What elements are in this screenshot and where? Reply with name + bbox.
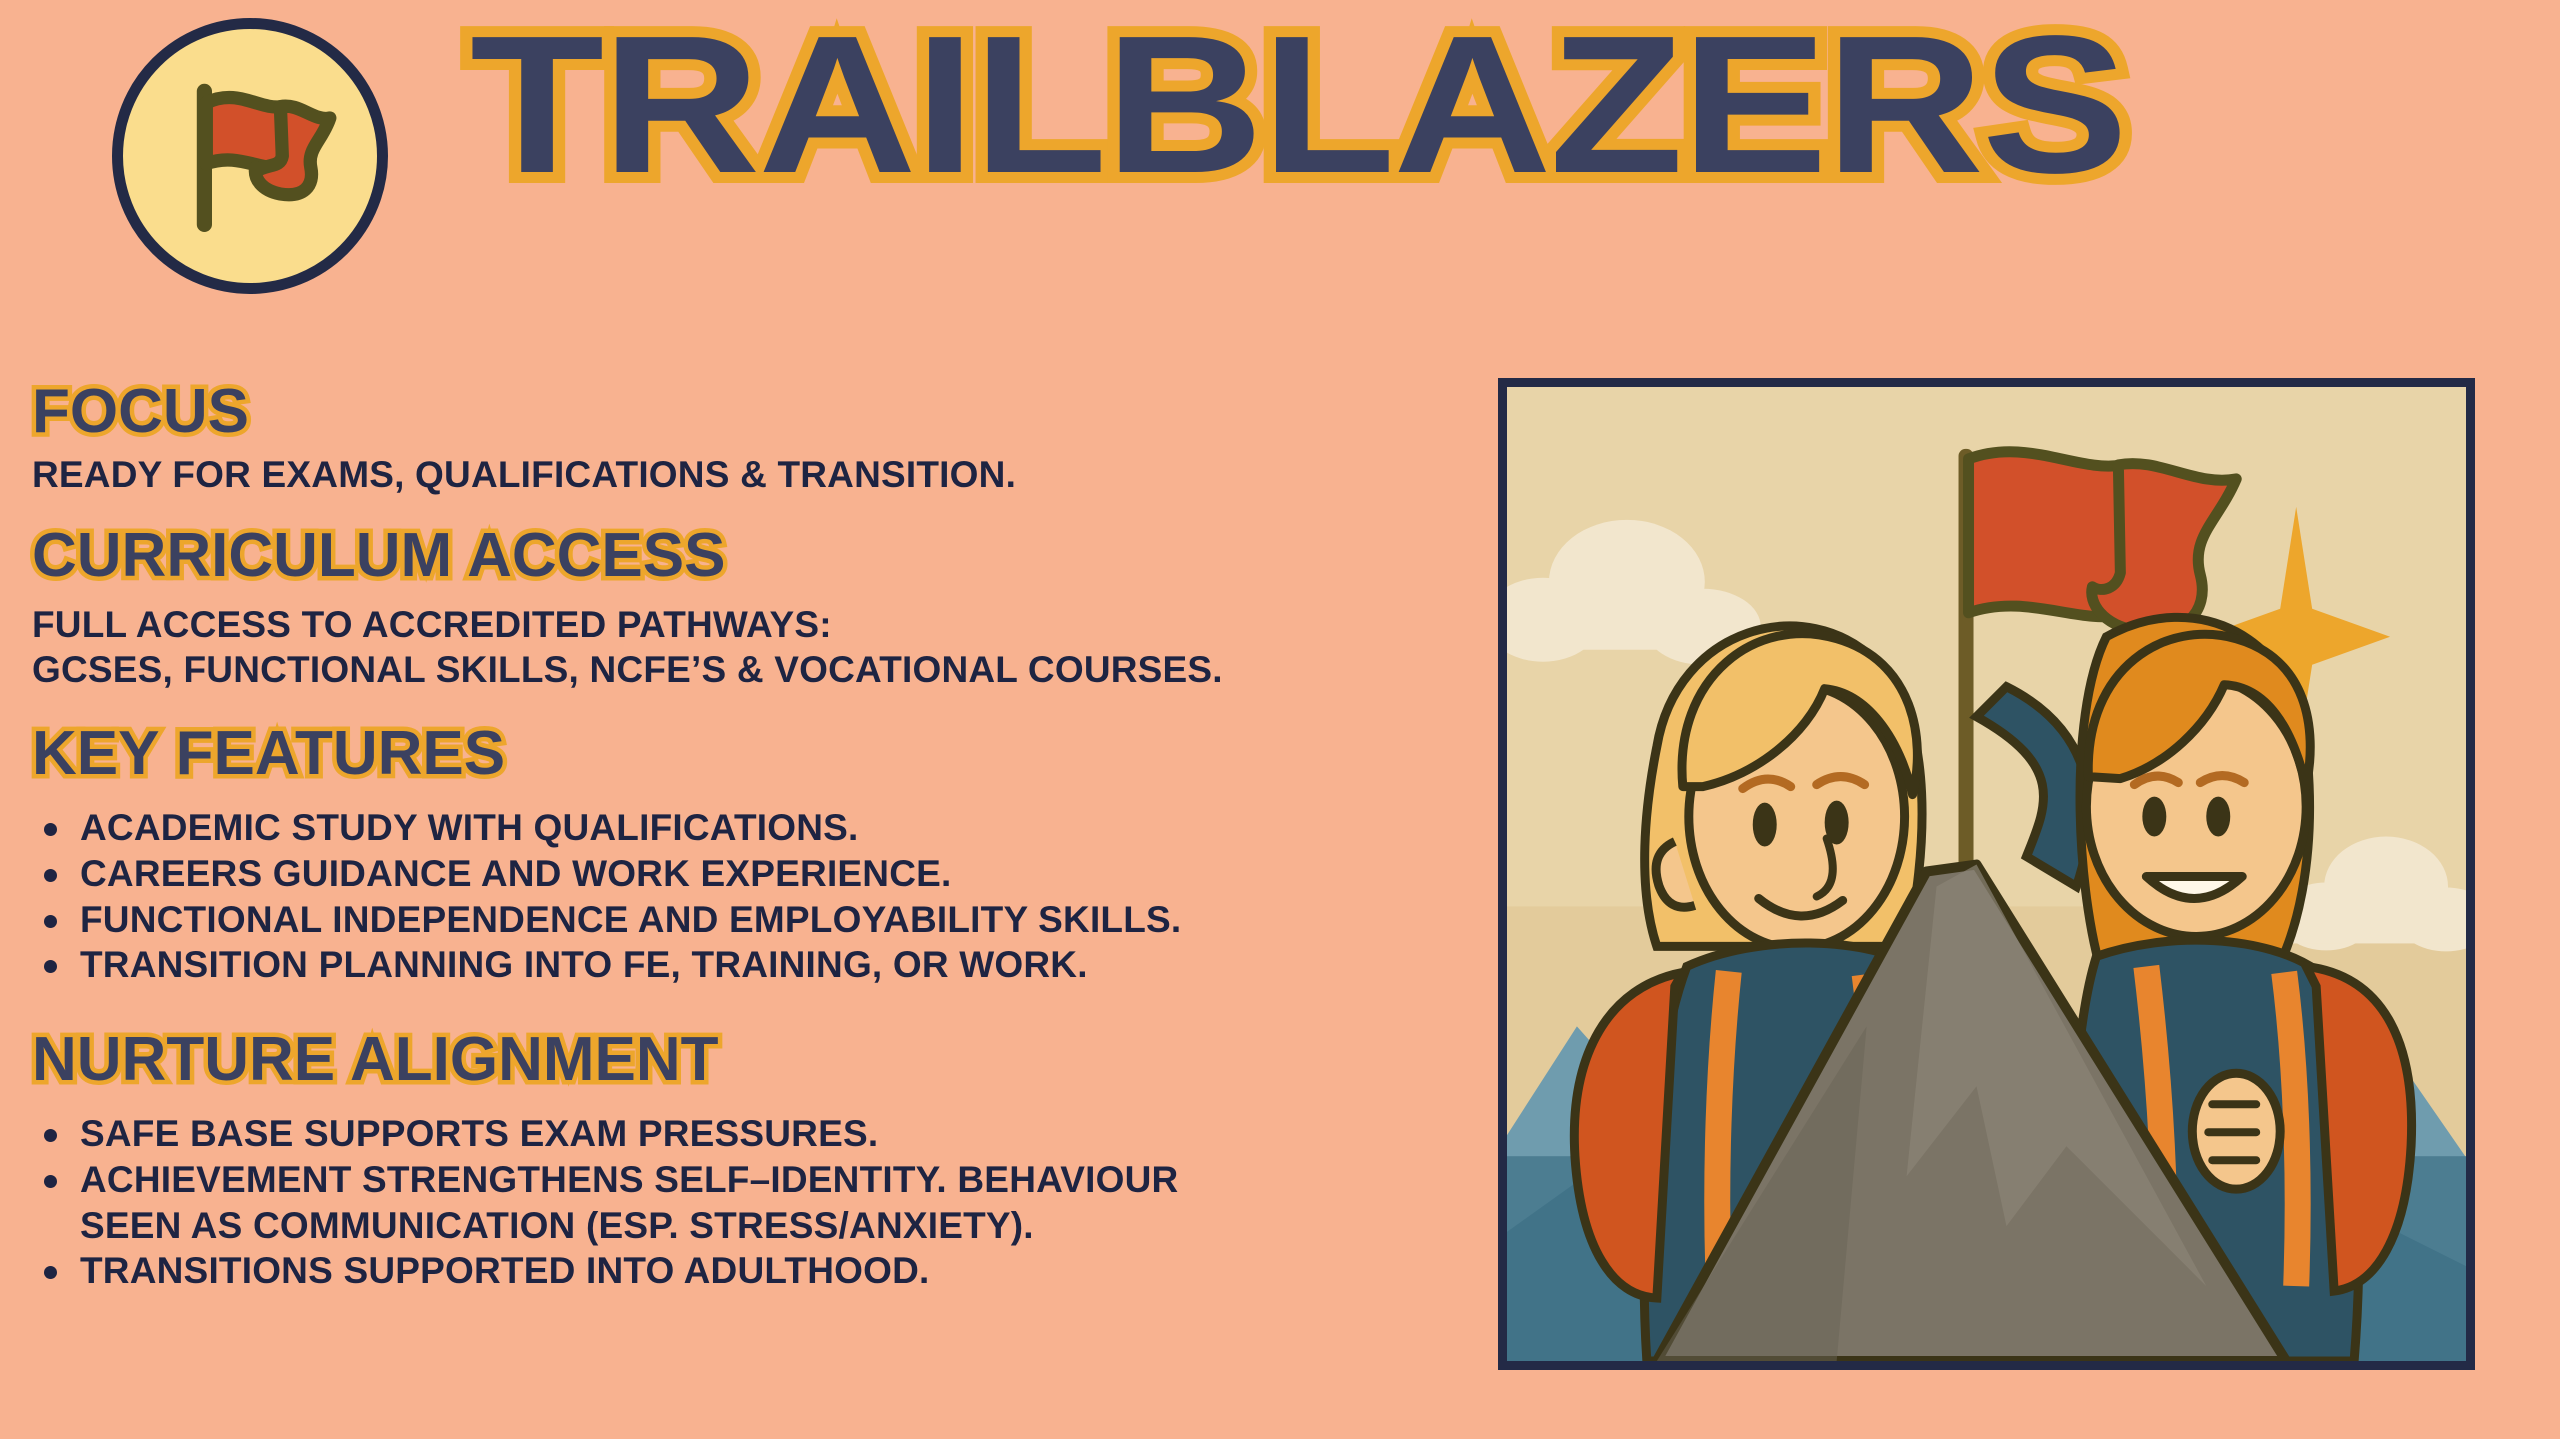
list-item: CAREERS GUIDANCE AND WORK EXPERIENCE. [32, 851, 1472, 897]
list-item: ACADEMIC STUDY WITH QUALIFICATIONS. [32, 805, 1472, 851]
section-curriculum-access: CURRICULUM ACCESS FULL ACCESS TO ACCREDI… [32, 524, 1472, 693]
section-body-focus-line-1: READY FOR EXAMS, QUALIFICATIONS & TRANSI… [32, 452, 1472, 497]
red-flag-icon [1969, 452, 2237, 632]
hand-icon [2192, 1073, 2280, 1189]
section-body-curriculum-line-2: GCSES, FUNCTIONAL SKILLS, NCFE’S & VOCAT… [32, 647, 1472, 692]
section-heading-focus: FOCUS [32, 380, 1472, 444]
list-item: TRANSITION PLANNING INTO FE, TRAINING, O… [32, 942, 1472, 988]
list-item: TRANSITIONS SUPPORTED INTO ADULTHOOD. [32, 1248, 1472, 1294]
nurture-alignment-list: SAFE BASE SUPPORTS EXAM PRESSURES. ACHIE… [32, 1111, 1472, 1295]
section-body-curriculum-line-1: FULL ACCESS TO ACCREDITED PATHWAYS: [32, 602, 1472, 647]
section-heading-key-features: KEY FEATURES [32, 722, 1472, 786]
list-item: ACHIEVEMENT STRENGTHENS SELF–IDENTITY. B… [32, 1157, 1210, 1249]
section-heading-curriculum-access: CURRICULUM ACCESS [32, 524, 1472, 588]
title-wrap: TRAILBLAZERS [470, 5, 2550, 205]
section-nurture-alignment: NURTURE ALIGNMENT SAFE BASE SUPPORTS EXA… [32, 1028, 1472, 1294]
illustration-frame [1498, 378, 2475, 1370]
list-item: SAFE BASE SUPPORTS EXAM PRESSURES. [32, 1111, 1472, 1157]
section-key-features: KEY FEATURES ACADEMIC STUDY WITH QUALIFI… [32, 722, 1472, 988]
key-features-list: ACADEMIC STUDY WITH QUALIFICATIONS. CARE… [32, 805, 1472, 989]
section-heading-nurture-alignment: NURTURE ALIGNMENT [32, 1028, 1472, 1092]
poster-header: TRAILBLAZERS [0, 0, 2560, 210]
section-focus: FOCUS READY FOR EXAMS, QUALIFICATIONS & … [32, 380, 1472, 498]
content-column: FOCUS READY FOR EXAMS, QUALIFICATIONS & … [32, 380, 1472, 1294]
page-title: TRAILBLAZERS [470, 5, 2560, 205]
list-item: FUNCTIONAL INDEPENDENCE AND EMPLOYABILIT… [32, 897, 1472, 943]
two-hikers-summit-flag-illustration [1507, 387, 2466, 1361]
flag-icon [155, 61, 345, 251]
logo-badge [112, 18, 388, 294]
